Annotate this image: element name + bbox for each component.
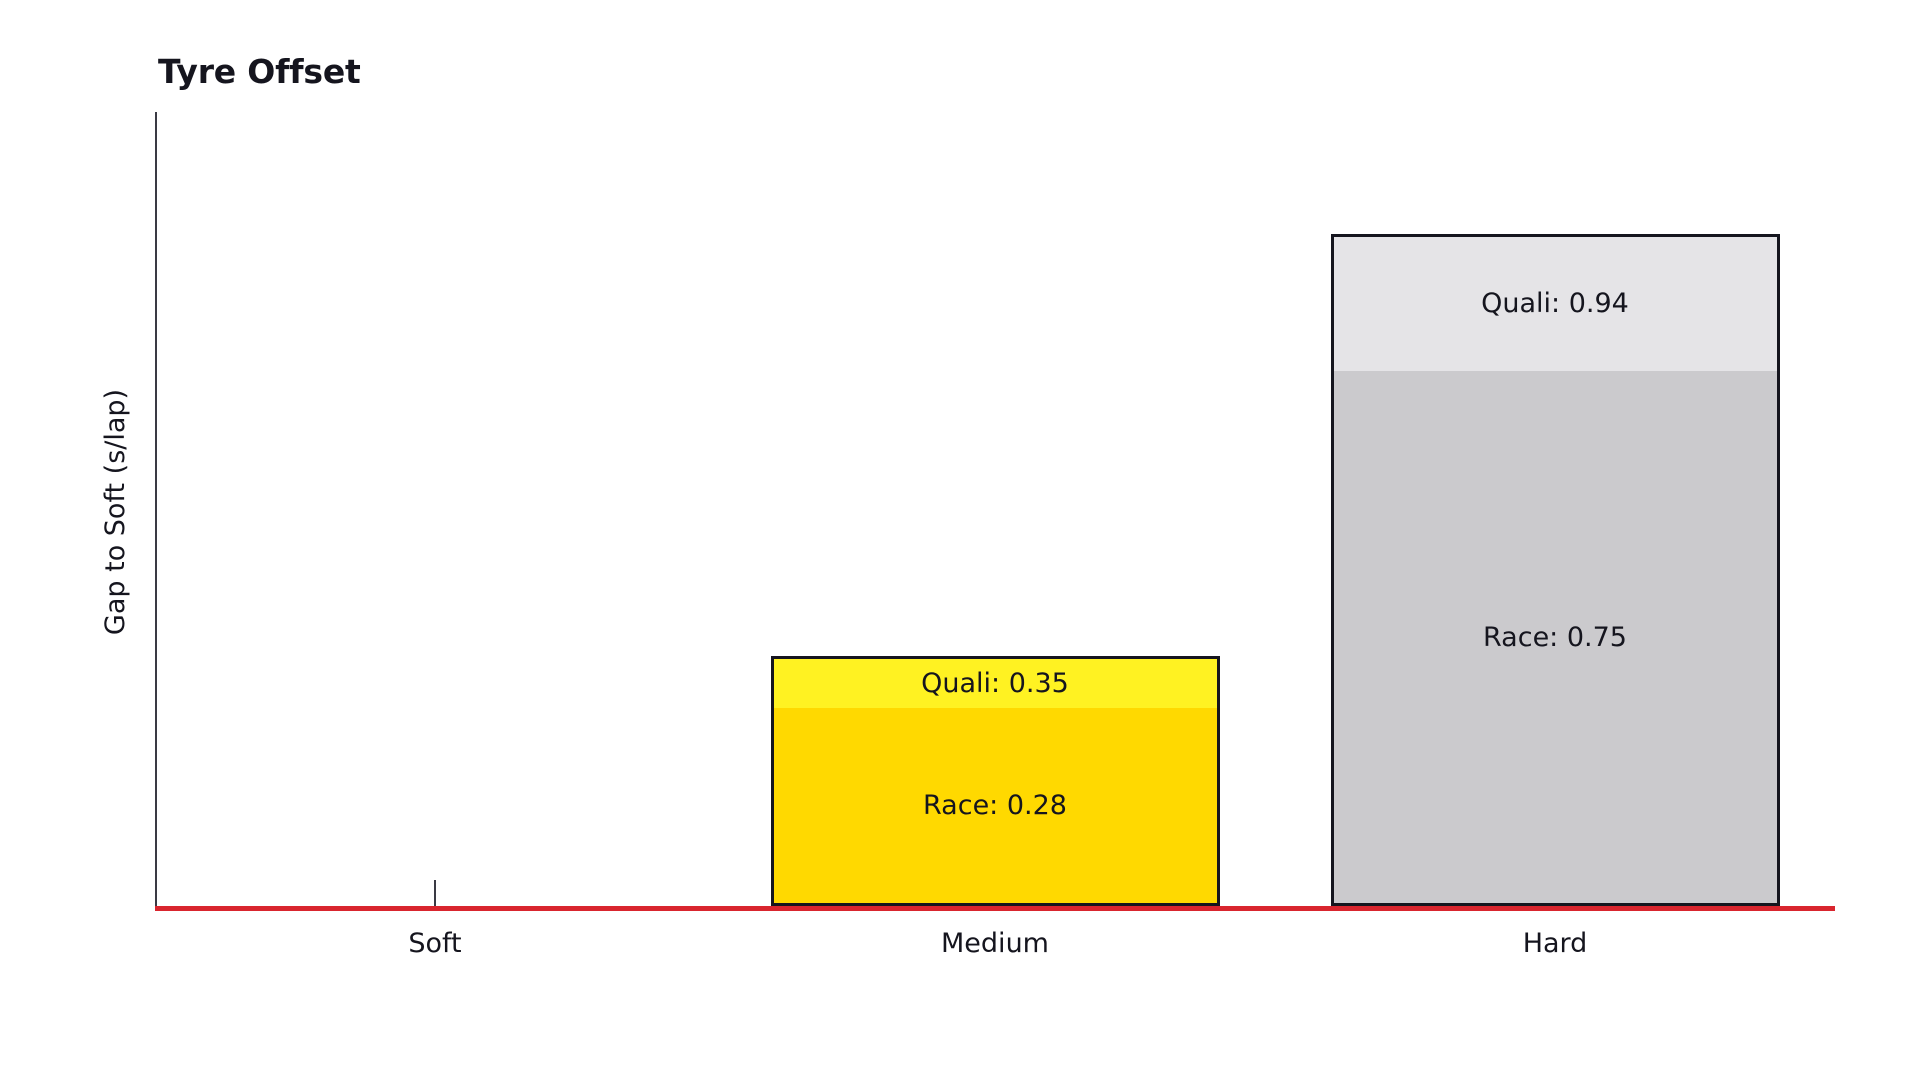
bar-label-hard-quali: Quali: 0.94 — [1481, 288, 1629, 319]
bar-segment-hard-race[interactable]: Race: 0.75 — [1334, 371, 1777, 903]
bar-group-soft — [211, 112, 660, 906]
bar-label-medium-quali: Quali: 0.35 — [921, 668, 1069, 699]
x-tick-label-medium: Medium — [845, 928, 1145, 959]
bar-stack-medium[interactable]: Quali: 0.35 Race: 0.28 — [771, 656, 1220, 906]
bar-segment-hard-quali[interactable]: Quali: 0.94 — [1334, 237, 1777, 372]
plot-area: Quali: 0.35 Race: 0.28 Quali: 0.94 Race:… — [155, 112, 1835, 906]
x-tick-label-soft: Soft — [285, 928, 585, 959]
bar-label-medium-race: Race: 0.28 — [923, 790, 1067, 821]
bar-stack-hard[interactable]: Quali: 0.94 Race: 0.75 — [1331, 234, 1780, 906]
x-tick-label-hard: Hard — [1405, 928, 1705, 959]
bar-segment-medium-race[interactable]: Race: 0.28 — [774, 708, 1217, 904]
zero-tick-soft — [434, 880, 436, 906]
y-axis-label: Gap to Soft (s/lap) — [100, 312, 131, 712]
x-axis-baseline — [155, 906, 1835, 911]
bar-label-hard-race: Race: 0.75 — [1483, 622, 1627, 653]
bar-segment-medium-quali[interactable]: Quali: 0.35 — [774, 659, 1217, 708]
bar-group-hard: Quali: 0.94 Race: 0.75 — [1331, 112, 1780, 906]
bar-group-medium: Quali: 0.35 Race: 0.28 — [771, 112, 1220, 906]
tyre-offset-chart: Tyre Offset Gap to Soft (s/lap) Quali: 0… — [0, 0, 1920, 1080]
chart-title: Tyre Offset — [158, 52, 361, 91]
